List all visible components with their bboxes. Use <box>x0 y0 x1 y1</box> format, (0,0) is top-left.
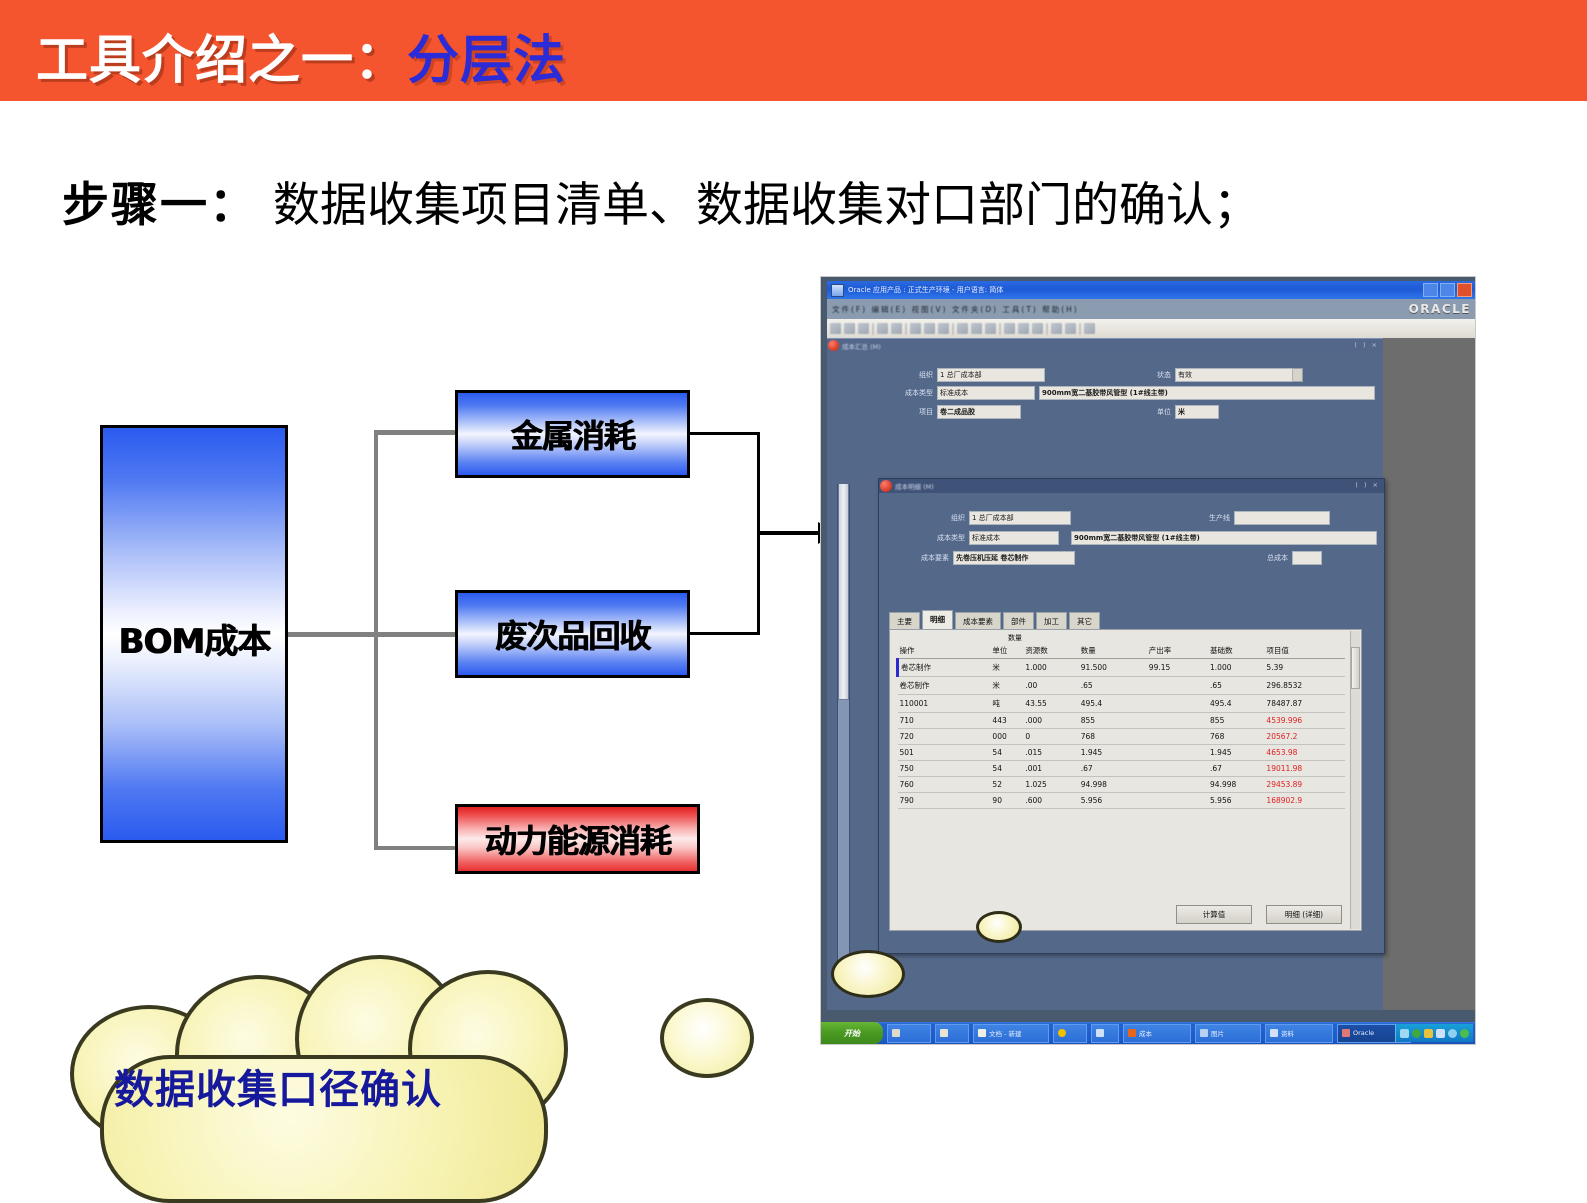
cut-icon[interactable] <box>910 323 921 334</box>
start-button[interactable]: 开始 <box>821 1022 883 1044</box>
app-icon <box>1058 1029 1066 1037</box>
table-scrollbar-thumb[interactable] <box>1351 647 1360 689</box>
table-cell[interactable]: 1.025 <box>1023 777 1078 793</box>
tab-other[interactable]: 其它 <box>1069 612 1100 630</box>
toolbar-separator <box>1046 323 1048 335</box>
clear-icon[interactable] <box>957 323 968 334</box>
calculate-button[interactable]: 计算值 <box>1176 905 1252 924</box>
connector-scrap-out <box>690 632 760 635</box>
field-label-detail-org: 组织 <box>951 513 965 523</box>
field-row-cost-type: 成本类型 标准成本 <box>905 386 1035 400</box>
dialog-close-icon[interactable] <box>880 480 892 492</box>
col-quantity: 数量 <box>1079 644 1147 659</box>
toolbar-separator <box>999 323 1001 335</box>
field-value-detail-org[interactable]: 1 总厂成本部 <box>969 511 1071 525</box>
app-toolbar[interactable] <box>827 319 1475 339</box>
table-cell[interactable]: .65 <box>1079 677 1147 695</box>
step-text: 数据收集项目清单、数据收集对口部门的确认； <box>273 178 1260 233</box>
table-cell[interactable]: .015 <box>1023 745 1078 761</box>
chevron-down-icon[interactable] <box>1293 368 1303 382</box>
page-title: 工具介绍之一：分层法 <box>36 18 566 93</box>
connector-metal-out <box>690 432 760 435</box>
save-icon[interactable] <box>858 323 869 334</box>
query-icon[interactable] <box>1004 323 1015 334</box>
table-cell[interactable] <box>1147 713 1208 729</box>
attachment-icon[interactable] <box>1051 323 1062 334</box>
node-scrap-recovery[interactable]: 废次品回收 <box>455 590 690 678</box>
clock-icon[interactable] <box>1448 1029 1457 1038</box>
cost-summary-titlebar: 成本汇总 (M) ( ) × <box>827 339 1383 352</box>
new-icon[interactable] <box>830 323 841 334</box>
oracle-logo: ORACLE <box>1409 302 1471 316</box>
table-cell[interactable]: 495.4 <box>1208 695 1264 713</box>
cloud-callout-bubble <box>660 998 754 1078</box>
node-bom-cost[interactable]: BOM成本 <box>100 425 288 843</box>
table-cell[interactable] <box>1331 729 1345 745</box>
app-icon <box>1096 1029 1104 1037</box>
field-label-uom: 单位 <box>1157 407 1171 417</box>
table-cell[interactable]: .65 <box>1208 677 1264 695</box>
table-cell[interactable] <box>1331 713 1345 729</box>
field-value-line[interactable] <box>1234 511 1330 525</box>
table-cell[interactable]: 768 <box>1079 729 1147 745</box>
table-cell[interactable] <box>1331 745 1345 761</box>
table-row[interactable]: 110001吨43.55495.4495.478487.87 <box>898 695 1346 713</box>
restore-icon[interactable] <box>1440 283 1455 297</box>
edit-icon[interactable] <box>985 323 996 334</box>
node-energy-consumption-label: 动力能源消耗 <box>484 816 670 862</box>
table-cell[interactable]: 5.39 <box>1264 659 1330 677</box>
table-cell[interactable]: 1.945 <box>1208 745 1264 761</box>
detail-button[interactable]: 明细 (详细) <box>1266 905 1342 924</box>
connector-trunk-vertical <box>374 430 378 850</box>
table-cell[interactable]: 29453.89 <box>1264 777 1330 793</box>
close-form-icon[interactable] <box>891 323 902 334</box>
minimize-icon[interactable] <box>1423 283 1438 297</box>
annotation-ellipse-large <box>831 950 905 998</box>
tab-processing[interactable]: 加工 <box>1036 612 1067 630</box>
app-menubar[interactable]: 文件(F) 编辑(E) 视图(V) 文件夹(D) 工具(T) 帮助(H) ORA… <box>827 299 1475 319</box>
table-cell[interactable]: 91.500 <box>1079 659 1147 677</box>
table-scrollbar[interactable] <box>1350 631 1360 929</box>
node-metal-consumption[interactable]: 金属消耗 <box>455 390 690 478</box>
table-cell[interactable]: .67 <box>1079 761 1147 777</box>
taskbar-item-label: 图片 <box>1211 1028 1224 1038</box>
table-row[interactable]: 卷芯制作米.00.65.65296.8532 <box>898 677 1346 695</box>
help-icon[interactable] <box>1084 323 1095 334</box>
document-icon <box>978 1029 986 1037</box>
field-value-org[interactable]: 1 总厂成本部 <box>937 368 1045 382</box>
table-cell[interactable]: 米 <box>990 677 1023 695</box>
field-label-org: 组织 <box>919 370 933 380</box>
app-icon <box>1200 1029 1208 1037</box>
page-title-main: 工具介绍之一： <box>36 31 407 91</box>
app-window-titlebar: Oracle 应用产品 : 正式生产环境 - 用户语言: 简体 <box>827 281 1475 299</box>
cost-summary-window-controls[interactable]: ( ) × <box>1354 341 1379 349</box>
field-label-cost-type: 成本类型 <box>905 388 933 398</box>
app-icon <box>1128 1029 1136 1037</box>
toolbar-separator <box>905 323 907 335</box>
windows-taskbar[interactable]: 开始 文档 - 新建 成本 图片 资料 Or <box>821 1022 1475 1044</box>
node-energy-consumption[interactable]: 动力能源消耗 <box>455 804 700 874</box>
table-cell[interactable]: 495.4 <box>1079 695 1147 713</box>
table-cell[interactable]: 4653.98 <box>1264 745 1330 761</box>
taskbar-item[interactable]: 图片 <box>1195 1024 1261 1043</box>
taskbar-item[interactable] <box>1053 1024 1087 1043</box>
window-icon <box>892 1029 900 1037</box>
table-row[interactable]: 50154.0151.9451.9454653.98 <box>898 745 1346 761</box>
table-row[interactable]: 卷芯制作米1.00091.50099.151.0005.39 <box>898 659 1346 677</box>
app-menubar-text: 文件(F) 编辑(E) 视图(V) 文件夹(D) 工具(T) 帮助(H) <box>832 304 1079 315</box>
table-cell[interactable] <box>1331 793 1345 809</box>
col-operation: 操作 <box>898 644 991 659</box>
field-row-item: 项目 卷二成品胶 <box>919 405 1021 419</box>
col-resource-count: 资源数 <box>1023 644 1078 659</box>
table-cell[interactable] <box>1147 761 1208 777</box>
table-cell[interactable]: 760 <box>898 777 991 793</box>
table-cell[interactable]: .00 <box>1023 677 1078 695</box>
field-value-uom[interactable]: 米 <box>1175 405 1219 419</box>
table-cell[interactable]: 750 <box>898 761 991 777</box>
table-cell[interactable]: 790 <box>898 793 991 809</box>
table-cell[interactable]: 855 <box>1079 713 1147 729</box>
table-cell[interactable]: 1.000 <box>1023 659 1078 677</box>
taskbar-item[interactable]: 成本 <box>1123 1024 1191 1043</box>
cloud-callout-text: 数据收集口径确认 <box>114 1057 442 1115</box>
taskbar-item[interactable] <box>887 1024 931 1043</box>
taskbar-item[interactable]: 文档 - 新建 <box>973 1024 1049 1043</box>
table-cell[interactable]: 5.956 <box>1079 793 1147 809</box>
field-label-item: 项目 <box>919 407 933 417</box>
table-cell[interactable]: 0 <box>1023 729 1078 745</box>
field-row-detail-cost-type: 成本类型 标准成本 <box>937 531 1059 545</box>
field-label-status: 状态 <box>1157 370 1171 380</box>
table-cell[interactable]: 000 <box>990 729 1023 745</box>
table-cell[interactable] <box>1147 729 1208 745</box>
field-value-detail-cost-type[interactable]: 标准成本 <box>969 531 1059 545</box>
taskbar-item-label: Oracle <box>1353 1029 1374 1037</box>
shield-icon[interactable] <box>1424 1029 1433 1038</box>
volume-icon[interactable] <box>1412 1029 1421 1038</box>
node-scrap-recovery-label: 废次品回收 <box>495 611 650 657</box>
step-subtitle: 步骤一： 数据收集项目清单、数据收集对口部门的确认； <box>62 166 1260 235</box>
node-bom-cost-label: BOM成本 <box>118 614 270 663</box>
dialog-close-icon[interactable] <box>828 340 839 351</box>
detail-button-label: 明细 (详细) <box>1285 909 1323 920</box>
field-label-detail-cost-type: 成本类型 <box>937 533 965 543</box>
taskbar-item[interactable]: 资料 <box>1265 1024 1333 1043</box>
taskbar-item-label: 文档 - 新建 <box>989 1028 1021 1038</box>
table-cell[interactable]: 99.15 <box>1147 659 1208 677</box>
taskbar-item[interactable] <box>935 1024 969 1043</box>
table-cell[interactable] <box>1147 793 1208 809</box>
table-cell[interactable]: 720 <box>898 729 991 745</box>
tab-component[interactable]: 部件 <box>1003 612 1034 630</box>
table-cell[interactable]: 443 <box>990 713 1023 729</box>
table-row[interactable]: 710443.0008558554539.996 <box>898 713 1346 729</box>
table-row[interactable]: 79090.6005.9565.956168902.9 <box>898 793 1346 809</box>
table-cell[interactable] <box>1331 677 1345 695</box>
field-value-cost-element[interactable]: 先卷压机压延 卷芯制作 <box>953 551 1075 565</box>
table-cell[interactable]: 296.8532 <box>1264 677 1330 695</box>
field-value-desc[interactable]: 900mm宽二基胶带风管型 (1#线主带) <box>1039 386 1375 400</box>
table-cell[interactable]: 52 <box>990 777 1023 793</box>
table-cell[interactable]: 54 <box>990 745 1023 761</box>
field-label-cost-element: 成本要素 <box>921 553 949 563</box>
table-cell[interactable]: 吨 <box>990 695 1023 713</box>
connector-branch-energy <box>374 846 458 850</box>
field-value-total-cost[interactable] <box>1292 551 1322 565</box>
table-cell[interactable] <box>1147 777 1208 793</box>
taskbar-item-label: 成本 <box>1139 1028 1152 1038</box>
table-subheader-quantity: 数量 <box>1008 633 1022 643</box>
table-cell[interactable] <box>1331 777 1345 793</box>
col-base-count: 基础数 <box>1208 644 1264 659</box>
field-value-cost-type[interactable]: 标准成本 <box>937 386 1035 400</box>
table-cell[interactable]: 94.998 <box>1079 777 1147 793</box>
toolbar-separator <box>952 323 954 335</box>
col-yield: 产出率 <box>1147 644 1208 659</box>
close-icon[interactable] <box>1457 283 1472 297</box>
table-cell[interactable]: 94.998 <box>1208 777 1264 793</box>
field-row-detail-org: 组织 1 总厂成本部 <box>951 511 1071 525</box>
table-cell[interactable]: .67 <box>1208 761 1264 777</box>
field-label-line: 生产线 <box>1209 513 1230 523</box>
connector-root-horizontal <box>288 632 458 637</box>
bom-cost-diagram: BOM成本 金属消耗 废次品回收 动力能源消耗 <box>0 270 815 1060</box>
prev-icon[interactable] <box>1032 323 1043 334</box>
table-cell[interactable]: 20567.2 <box>1264 729 1330 745</box>
cost-summary-title: 成本汇总 (M) <box>842 341 881 351</box>
field-row-status: 状态 有效 <box>1157 368 1303 382</box>
field-row-line: 生产线 <box>1209 511 1330 525</box>
field-row-org: 组织 1 总厂成本部 <box>919 368 1045 382</box>
toolbar-separator <box>1079 323 1081 335</box>
network-icon[interactable] <box>1400 1029 1409 1038</box>
table-cell[interactable]: 米 <box>990 659 1023 677</box>
table-cell[interactable]: 501 <box>898 745 991 761</box>
col-unit: 单位 <box>990 644 1023 659</box>
table-cell[interactable] <box>1147 677 1208 695</box>
oracle-icon <box>1342 1029 1350 1037</box>
field-row-cost-element: 成本要素 先卷压机压延 卷芯制作 <box>921 551 1075 565</box>
desktop-background <box>1383 338 1475 1010</box>
tab-detail[interactable]: 明细 <box>922 610 953 630</box>
table-cell[interactable]: 卷芯制作 <box>898 677 991 695</box>
node-metal-consumption-label: 金属消耗 <box>510 411 634 457</box>
table-cell[interactable]: 19011.98 <box>1264 761 1330 777</box>
cloud-callout: 数据收集口径确认 <box>70 945 590 1195</box>
table-row[interactable]: 760521.02594.99894.99829453.89 <box>898 777 1346 793</box>
table-row[interactable]: 75054.001.67.6719011.98 <box>898 761 1346 777</box>
field-value-status[interactable]: 有效 <box>1175 368 1293 382</box>
cost-detail-table-panel: 数量 操作 单位 资源数 数量 产出率 基础数 项目值 <box>889 629 1362 931</box>
toolbar-separator <box>872 323 874 335</box>
taskbar-item-label: 资料 <box>1281 1028 1294 1038</box>
table-cell[interactable]: 90 <box>990 793 1023 809</box>
table-cell[interactable]: 1.945 <box>1079 745 1147 761</box>
taskbar-item[interactable] <box>1091 1024 1119 1043</box>
table-cell[interactable] <box>1331 761 1345 777</box>
calculate-button-label: 计算值 <box>1203 909 1226 920</box>
tab-main[interactable]: 主要 <box>889 612 920 630</box>
monitor-icon[interactable] <box>1436 1029 1445 1038</box>
slide-title-bar: 工具介绍之一：分层法 <box>0 0 1587 101</box>
field-row-total-cost: 总成本 <box>1267 551 1322 565</box>
delete-icon[interactable] <box>971 323 982 334</box>
table-row[interactable]: 720000076876820567.2 <box>898 729 1346 745</box>
table-header-row: 操作 单位 资源数 数量 产出率 基础数 项目值 <box>898 644 1346 659</box>
cost-detail-dialog[interactable]: 成本明细 (M) ( ) × 组织 1 总厂成本部 生产线 成本类型 标准成本 … <box>878 478 1385 954</box>
cost-detail-tabstrip[interactable]: 主要 明细 成本要素 部件 加工 其它 <box>889 610 1100 630</box>
col-extra <box>1331 644 1345 659</box>
app-tray-icon[interactable] <box>1460 1029 1469 1038</box>
table-cell[interactable]: .600 <box>1023 793 1078 809</box>
field-value-item[interactable]: 卷二成品胶 <box>937 405 1021 419</box>
app-window-title: Oracle 应用产品 : 正式生产环境 - 用户语言: 简体 <box>848 285 1003 295</box>
annotation-ellipse-small <box>976 911 1022 943</box>
field-row-uom: 单位 米 <box>1157 405 1219 419</box>
cost-detail-table[interactable]: 操作 单位 资源数 数量 产出率 基础数 项目值 卷芯制作米1.00091.50… <box>896 644 1345 809</box>
window-controls <box>1423 283 1472 297</box>
table-cell[interactable] <box>1147 695 1208 713</box>
system-tray[interactable] <box>1395 1024 1473 1042</box>
print-icon[interactable] <box>877 323 888 334</box>
cost-detail-window-controls[interactable]: ( ) × <box>1355 481 1380 489</box>
table-cell[interactable]: 1.000 <box>1208 659 1264 677</box>
field-row-detail-desc: 900mm宽二基胶带风管型 (1#线主带) <box>1071 531 1377 545</box>
table-cell[interactable]: 4539.996 <box>1264 713 1330 729</box>
connector-branch-metal <box>374 430 458 435</box>
table-cell[interactable]: 54 <box>990 761 1023 777</box>
col-item-value: 项目值 <box>1264 644 1330 659</box>
table-cell[interactable] <box>1331 659 1345 677</box>
step-label: 步骤一： <box>62 178 258 233</box>
field-row-desc: 900mm宽二基胶带风管型 (1#线主带) <box>1039 386 1375 400</box>
table-cell[interactable]: 卷芯制作 <box>898 659 991 677</box>
window-icon <box>940 1029 948 1037</box>
copy-icon[interactable] <box>924 323 935 334</box>
erp-screenshot-image: Oracle 应用产品 : 正式生产环境 - 用户语言: 简体 文件(F) 编辑… <box>820 276 1476 1045</box>
app-icon <box>1270 1029 1278 1037</box>
field-value-detail-desc[interactable]: 900mm宽二基胶带风管型 (1#线主带) <box>1071 531 1377 545</box>
cost-detail-titlebar: 成本明细 (M) ( ) × <box>879 479 1384 493</box>
table-cell[interactable]: 768 <box>1208 729 1264 745</box>
table-cell[interactable]: 5.956 <box>1208 793 1264 809</box>
cost-detail-title: 成本明细 (M) <box>895 481 934 491</box>
table-cell[interactable]: 43.55 <box>1023 695 1078 713</box>
open-icon[interactable] <box>844 323 855 334</box>
tab-cost-element[interactable]: 成本要素 <box>955 612 1001 630</box>
table-cell[interactable]: .001 <box>1023 761 1078 777</box>
page-title-highlight: 分层法 <box>407 31 566 91</box>
table-cell[interactable]: 168902.9 <box>1264 793 1330 809</box>
table-cell[interactable]: 855 <box>1208 713 1264 729</box>
connector-arrow-shaft <box>757 531 827 535</box>
folder-icon[interactable] <box>1065 323 1076 334</box>
table-cell[interactable]: 78487.87 <box>1264 695 1330 713</box>
table-cell[interactable]: .000 <box>1023 713 1078 729</box>
field-label-total-cost: 总成本 <box>1267 553 1288 563</box>
table-cell[interactable] <box>1147 745 1208 761</box>
paste-icon[interactable] <box>938 323 949 334</box>
table-cell[interactable]: 710 <box>898 713 991 729</box>
cost-summary-dialog[interactable]: 成本汇总 (M) ( ) × 组织 1 总厂成本部 状态 有效 成本类型 标准成… <box>827 338 1383 484</box>
table-cell[interactable] <box>1331 695 1345 713</box>
table-cell[interactable]: 110001 <box>898 695 991 713</box>
app-window-icon <box>831 284 844 297</box>
next-icon[interactable] <box>1018 323 1029 334</box>
